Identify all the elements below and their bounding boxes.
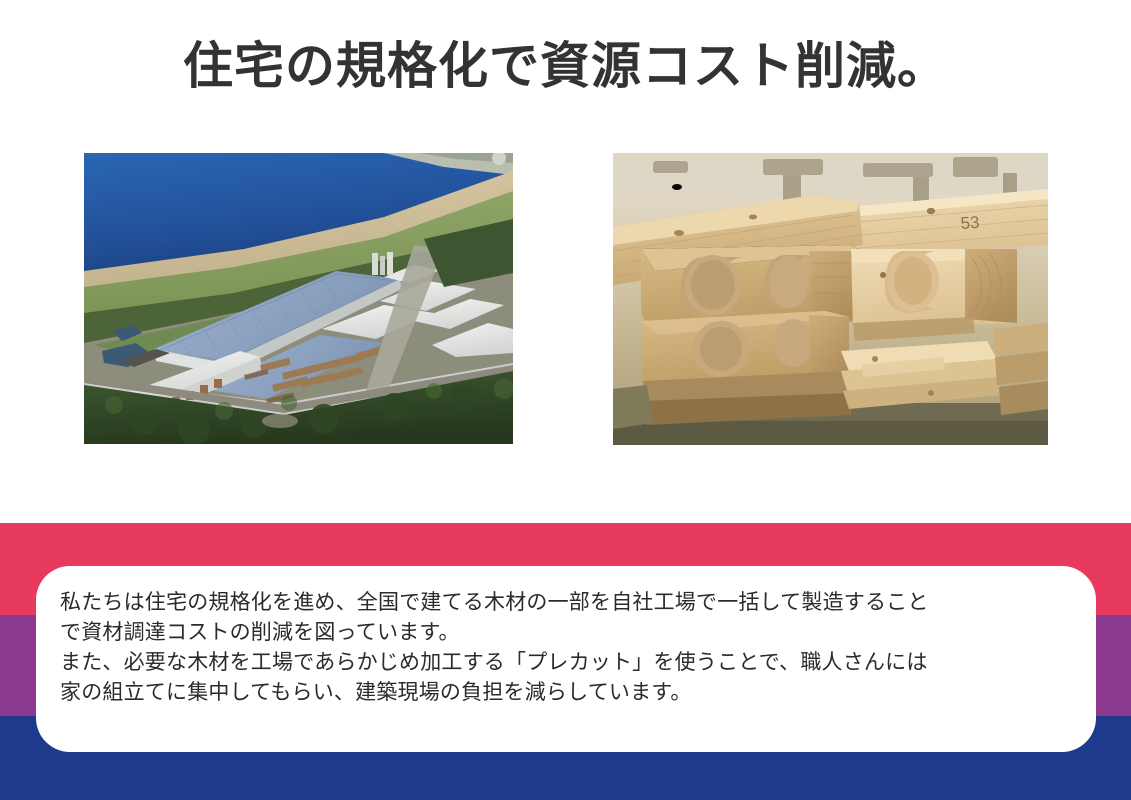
page-title: 住宅の規格化で資源コスト削減。 bbox=[0, 36, 1131, 96]
precut-timber-photo: 53 53 bbox=[613, 153, 1048, 445]
description-line-4: 家の組立てに集中してもらい、建築現場の負担を減らしています。 bbox=[60, 678, 1066, 708]
aerial-factory-photo bbox=[84, 153, 513, 444]
description-line-2: で資材調達コストの削減を図っています。 bbox=[60, 618, 1066, 648]
description-line-1: 私たちは住宅の規格化を進め、全国で建てる木材の一部を自社工場で一括して製造するこ… bbox=[60, 588, 1066, 618]
description-card: 私たちは住宅の規格化を進め、全国で建てる木材の一部を自社工場で一括して製造するこ… bbox=[36, 566, 1096, 752]
aerial-factory-illustration bbox=[84, 153, 513, 444]
timber-marking-53: 53 bbox=[960, 213, 980, 233]
description-line-3: また、必要な木材を工場であらかじめ加工する「プレカット」を使うことで、職人さんに… bbox=[60, 648, 1066, 678]
precut-timber-illustration: 53 53 bbox=[613, 153, 1048, 445]
